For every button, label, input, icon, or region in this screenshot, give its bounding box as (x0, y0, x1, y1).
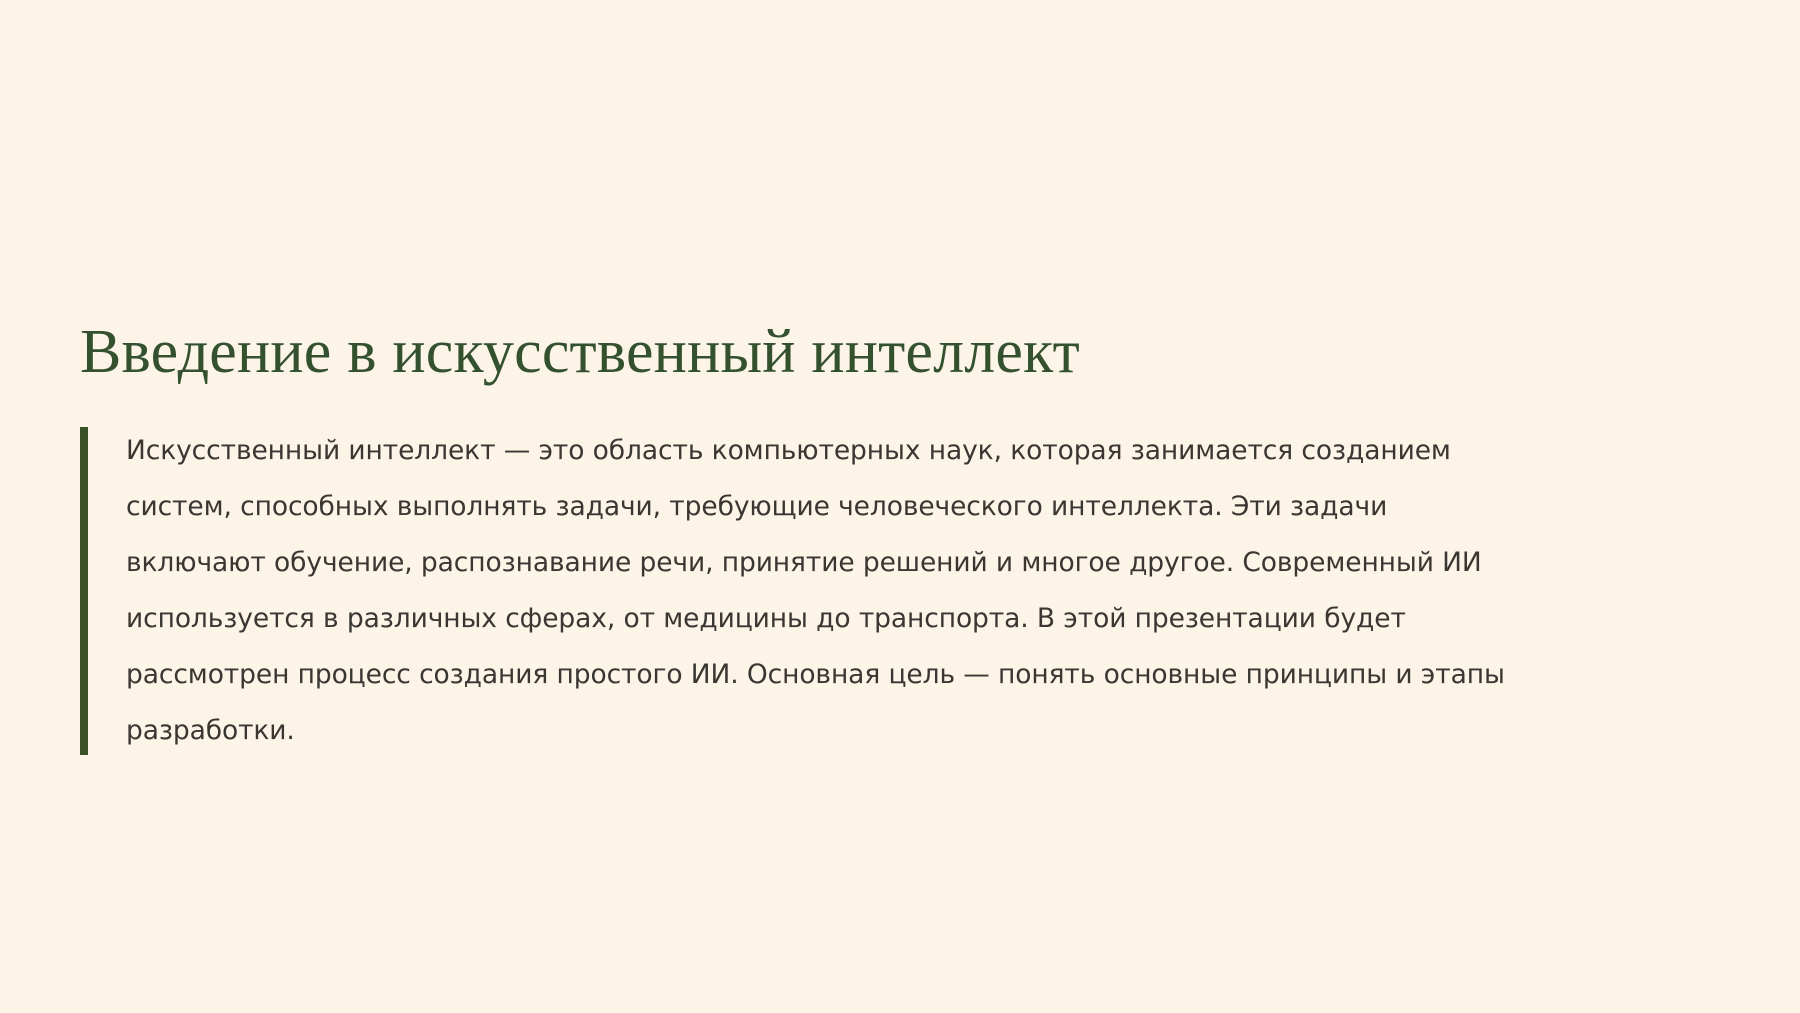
accent-bar (80, 427, 88, 755)
slide-title: Введение в искусственный интеллект (80, 318, 1720, 387)
slide-body-text: Искусственный интеллект — это область ко… (126, 423, 1526, 759)
presentation-slide: Введение в искусственный интеллект Искус… (0, 0, 1800, 1013)
slide-content: Введение в искусственный интеллект Искус… (80, 318, 1720, 759)
body-block: Искусственный интеллект — это область ко… (80, 423, 1720, 759)
